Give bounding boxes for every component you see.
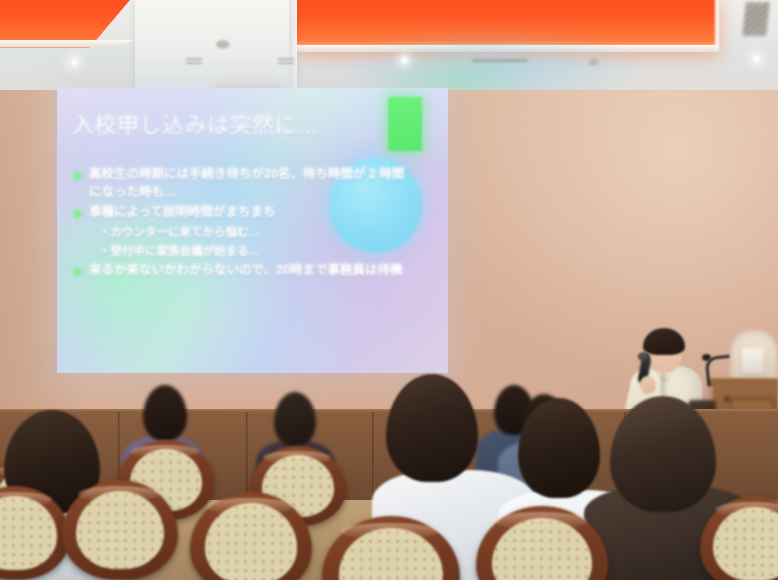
chair-highlight (131, 445, 198, 458)
chair-upholstery (76, 491, 164, 569)
slide-bullet-text: 車種によって説明時間がまちまち (89, 204, 276, 222)
chair[interactable] (0, 486, 70, 580)
slide-bullet-text: 高校生の時期には手続き待ちが20名、待ち時間が 2 時間 になった時も… (89, 166, 404, 202)
smoke-detector-icon (216, 40, 230, 49)
projection-screen: 入校申し込みは突然に… 高校生の時期には手続き待ちが20名、待ち時間が 2 時間… (57, 88, 448, 373)
chair[interactable] (190, 492, 312, 580)
chair-highlight (494, 512, 586, 529)
chair-highlight (78, 486, 159, 502)
air-vent-icon (186, 58, 202, 65)
chair-upholstery (205, 503, 298, 580)
niche-object (742, 348, 764, 374)
ceiling-beam-edge (289, 0, 297, 96)
presentation-room-photo: 入校申し込みは突然に… 高校生の時期には手続き待ちが20名、待ち時間が 2 時間… (0, 0, 778, 580)
slide-accent-rectangle (388, 97, 422, 151)
wall-light-falloff (440, 90, 778, 390)
chair-highlight (207, 498, 292, 515)
cove-lip-left (0, 40, 135, 47)
slide-bullet-item: 来るか来ないかわからないので、20時まで事務員は待機 (75, 262, 435, 280)
air-vent-icon (472, 58, 528, 62)
ceiling-spotlight (70, 58, 79, 67)
lectern-knob (724, 396, 730, 402)
ceiling-spotlight (400, 56, 409, 65)
slide-bullet-list: 高校生の時期には手続き待ちが20名、待ち時間が 2 時間 になった時も… 車種に… (75, 166, 435, 282)
chair[interactable] (322, 516, 460, 580)
chair-highlight (263, 451, 330, 464)
slide-bullet-text: 来るか来ないかわからないので、20時まで事務員は待機 (89, 262, 402, 280)
gooseneck-mic-head (702, 354, 711, 361)
audience-head (143, 385, 187, 441)
chair-highlight (341, 523, 438, 541)
ceiling (0, 0, 778, 96)
slide-title: 入校申し込みは突然に… (72, 108, 320, 140)
triangle-bullet-icon (75, 209, 83, 219)
presenter-hand (640, 376, 656, 394)
air-vent-icon (278, 58, 294, 65)
audience-head (274, 392, 316, 446)
slide-subbullet-text: ・受付中に家族会議が始まる… (99, 243, 435, 259)
chair[interactable] (700, 496, 778, 580)
slide-bullet-item: 高校生の時期には手続き待ちが20名、待ち時間が 2 時間 になった時も… (75, 166, 435, 202)
chair[interactable] (476, 506, 608, 580)
triangle-bullet-icon (75, 171, 83, 181)
chair[interactable] (62, 480, 178, 580)
slide-subbullet-text: ・カウンターに来てから悩む… (99, 224, 435, 240)
triangle-bullet-icon (75, 267, 83, 277)
microphone-head (638, 352, 650, 361)
speaker-grille-icon (742, 2, 770, 36)
ceiling-sensor-icon (588, 58, 599, 66)
slide-bullet-item: 車種によって説明時間がまちまち (75, 204, 435, 222)
ceiling-spotlight (752, 54, 761, 63)
presenter-placket (661, 372, 665, 398)
